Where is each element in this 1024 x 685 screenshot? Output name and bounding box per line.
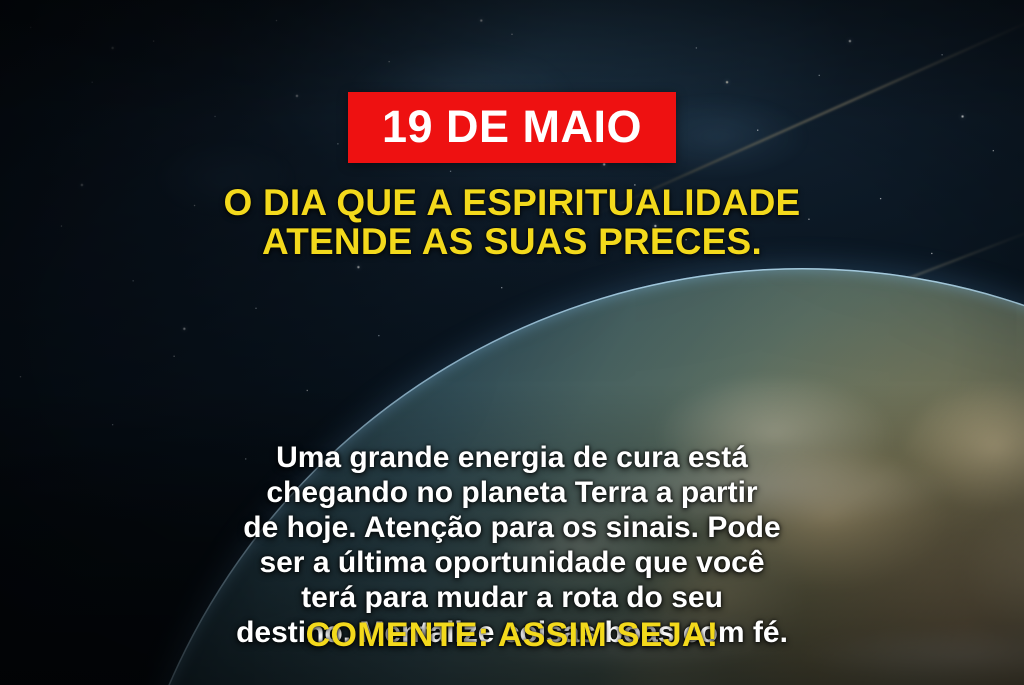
body-line-2: chegando no planeta Terra a partir	[0, 475, 1024, 510]
body-line-3: de hoje. Atenção para os sinais. Pode	[0, 510, 1024, 545]
headline: O DIA QUE A ESPIRITUALIDADE ATENDE AS SU…	[224, 183, 801, 261]
headline-line-2: ATENDE AS SUAS PRECES.	[224, 222, 801, 261]
body-line-1: Uma grande energia de cura está	[0, 440, 1024, 475]
date-banner: 19 DE MAIO	[348, 92, 676, 163]
call-to-action: COMENTE: ASSIM SEJA!	[0, 616, 1024, 655]
headline-line-1: O DIA QUE A ESPIRITUALIDADE	[224, 183, 801, 222]
body-line-4: ser a última oportunidade que você	[0, 545, 1024, 580]
poster-canvas: 19 DE MAIO O DIA QUE A ESPIRITUALIDADE A…	[0, 0, 1024, 685]
poster-content: 19 DE MAIO O DIA QUE A ESPIRITUALIDADE A…	[0, 0, 1024, 685]
body-line-5: terá para mudar a rota do seu	[0, 580, 1024, 615]
